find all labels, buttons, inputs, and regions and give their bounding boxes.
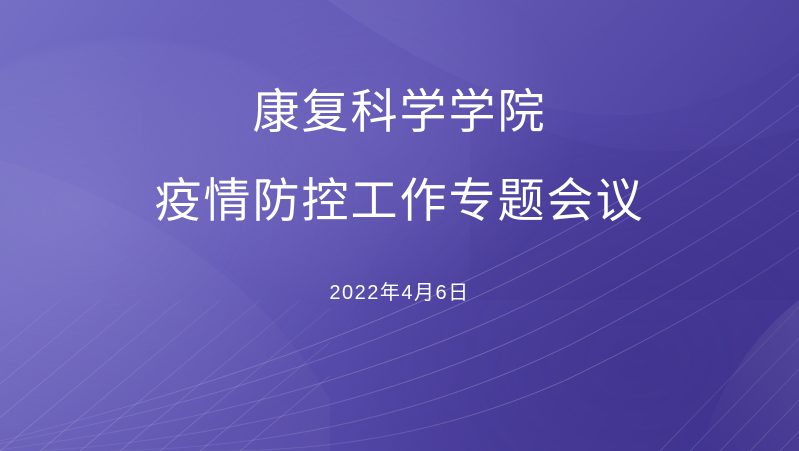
title-line-2: 疫情防控工作专题会议 [155,177,645,224]
slide-content: 康复科学学院 疫情防控工作专题会议 2022年4月6日 [0,0,799,451]
slide-date: 2022年4月6日 [329,276,469,305]
title-line-1: 康复科学学院 [253,88,547,135]
title-slide: 康复科学学院 疫情防控工作专题会议 2022年4月6日 [0,0,799,451]
